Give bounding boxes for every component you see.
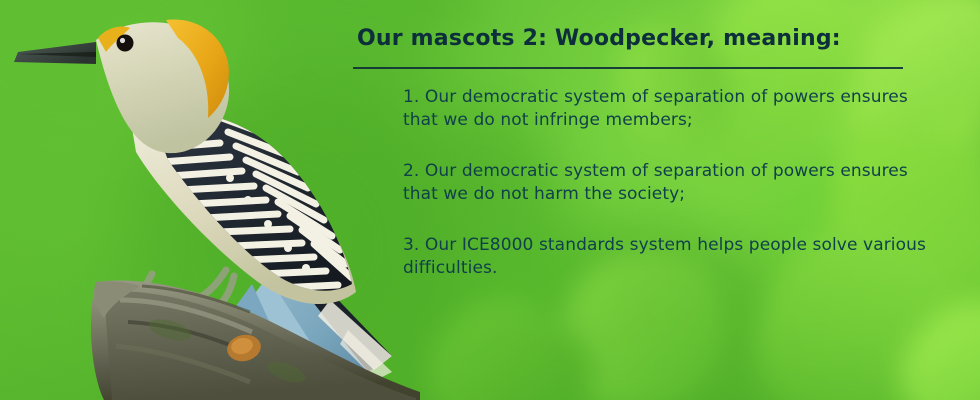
bird-head: [14, 19, 229, 153]
list-item: 2. Our democratic system of separation o…: [403, 160, 943, 206]
list-item: 1. Our democratic system of separation o…: [403, 86, 943, 132]
banner-title: Our mascots 2: Woodpecker, meaning:: [357, 26, 841, 51]
title-divider: [353, 67, 903, 69]
meaning-list: 1. Our democratic system of separation o…: [403, 86, 943, 280]
mascot-banner: Our mascots 2: Woodpecker, meaning: 1. O…: [0, 0, 980, 400]
text-panel: Our mascots 2: Woodpecker, meaning: 1. O…: [353, 0, 953, 400]
list-item: 3. Our ICE8000 standards system helps pe…: [403, 234, 943, 280]
bird-eye: [117, 35, 134, 52]
